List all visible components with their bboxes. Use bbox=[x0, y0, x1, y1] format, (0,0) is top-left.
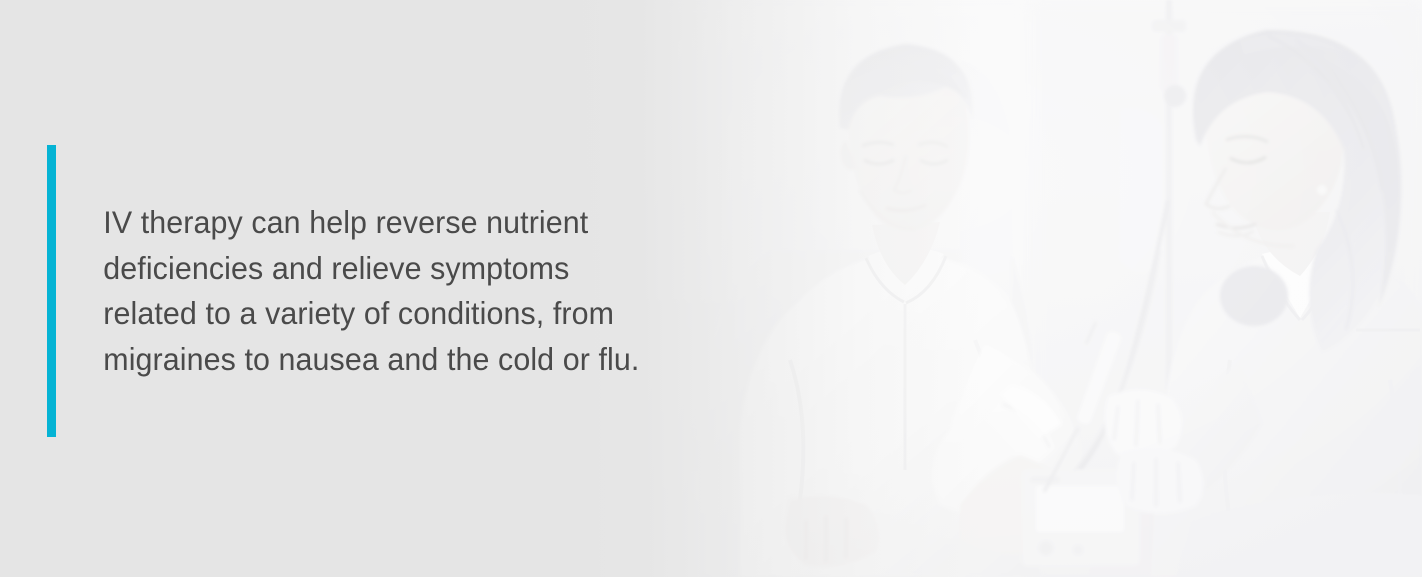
accent-bar bbox=[47, 145, 56, 437]
callout-banner: IV therapy can help reverse nutrient def… bbox=[0, 0, 1422, 577]
callout: IV therapy can help reverse nutrient def… bbox=[47, 145, 661, 437]
callout-text: IV therapy can help reverse nutrient def… bbox=[56, 145, 639, 437]
